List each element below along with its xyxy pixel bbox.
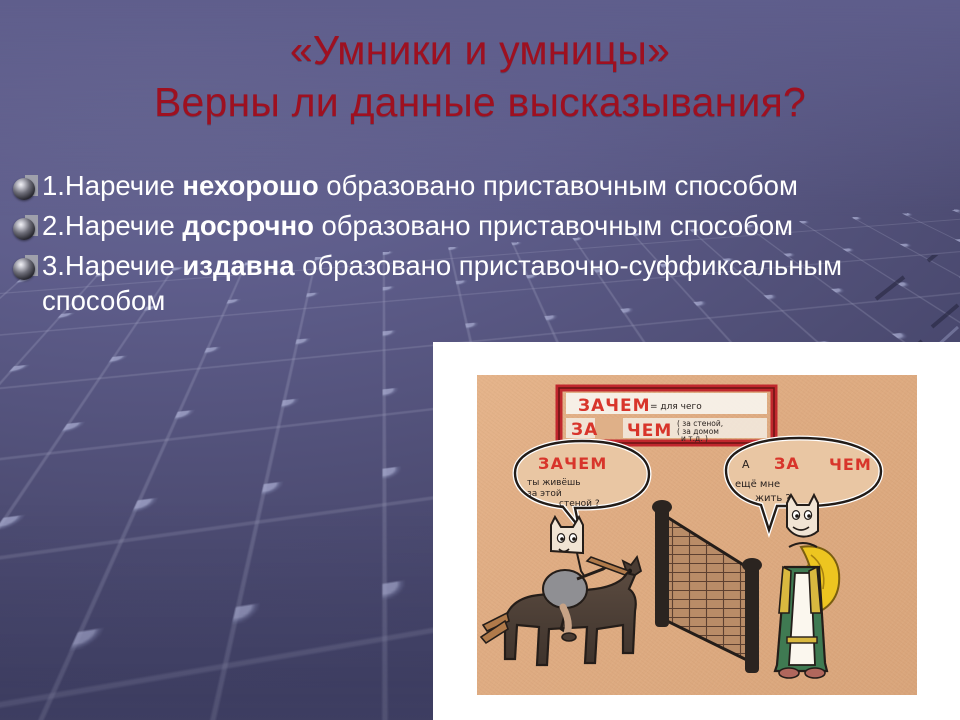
svg-text:ЗА: ЗА (571, 420, 598, 440)
statement-3-prefix: 3.Наречие (42, 250, 182, 281)
statement-1-text: 1.Наречие нехорошо образовано приставочн… (42, 168, 942, 204)
statement-2-suffix: образовано приставочным способом (314, 210, 793, 241)
svg-text:ещё мне: ещё мне (735, 479, 780, 490)
red-definition-box: ЗАЧЕМ = для чего ЗА ЧЕМ ( за стеной, ( з… (559, 388, 774, 443)
knight-on-horse (481, 517, 641, 665)
left-speech-bubble: ЗАЧЕМ ты живёшь за этой стеной ? (515, 441, 649, 527)
princess (775, 495, 839, 678)
svg-text:за этой: за этой (527, 489, 562, 499)
statement-2-prefix: 2.Наречие (42, 210, 182, 241)
list-item: 3.Наречие издавна образовано приставочно… (12, 248, 942, 320)
statement-list: 1.Наречие нехорошо образовано приставочн… (12, 168, 942, 323)
statement-2-keyword: досрочно (182, 210, 313, 241)
svg-text:и т.д. ): и т.д. ) (681, 434, 708, 443)
picture-frame: ЗАЧЕМ = для чего ЗА ЧЕМ ( за стеной, ( з… (433, 342, 960, 720)
brick-wall (652, 500, 762, 673)
statement-2-text: 2.Наречие досрочно образовано приставочн… (42, 208, 942, 244)
title-line-2: Верны ли данные высказывания? (0, 76, 960, 128)
svg-text:А: А (742, 458, 750, 471)
svg-text:ЗАЧЕМ: ЗАЧЕМ (538, 454, 608, 473)
svg-text:ЧЕМ: ЧЕМ (829, 455, 872, 474)
sphere-bullet-icon (12, 175, 38, 201)
statement-1-prefix: 1.Наречие (42, 170, 182, 201)
sphere-bullet-icon (12, 255, 38, 281)
sphere-bullet-icon (12, 215, 38, 241)
statement-1-suffix: образовано приставочным способом (319, 170, 798, 201)
title-line-1: «Умники и умницы» (0, 24, 960, 76)
svg-text:ЗА: ЗА (774, 454, 800, 473)
svg-text:= для чего: = для чего (650, 402, 702, 412)
slide-title: «Умники и умницы» Верны ли данные высказ… (0, 24, 960, 129)
statement-1-keyword: нехорошо (182, 170, 318, 201)
svg-text:ЧЕМ: ЧЕМ (627, 421, 672, 441)
slide: «Умники и умницы» Верны ли данные высказ… (0, 0, 960, 720)
cartoon-drawing: ЗАЧЕМ = для чего ЗА ЧЕМ ( за стеной, ( з… (477, 375, 917, 695)
statement-3-keyword: издавна (182, 250, 294, 281)
svg-text:ты живёшь: ты живёшь (527, 478, 581, 488)
cartoon-illustration: ЗАЧЕМ = для чего ЗА ЧЕМ ( за стеной, ( з… (477, 375, 917, 695)
svg-text:ЗАЧЕМ: ЗАЧЕМ (578, 396, 651, 416)
list-item: 2.Наречие досрочно образовано приставочн… (12, 208, 942, 244)
list-item: 1.Наречие нехорошо образовано приставочн… (12, 168, 942, 204)
statement-3-text: 3.Наречие издавна образовано приставочно… (42, 248, 942, 320)
svg-text:жить ?: жить ? (755, 493, 791, 504)
svg-text:стеной ?: стеной ? (559, 499, 600, 509)
